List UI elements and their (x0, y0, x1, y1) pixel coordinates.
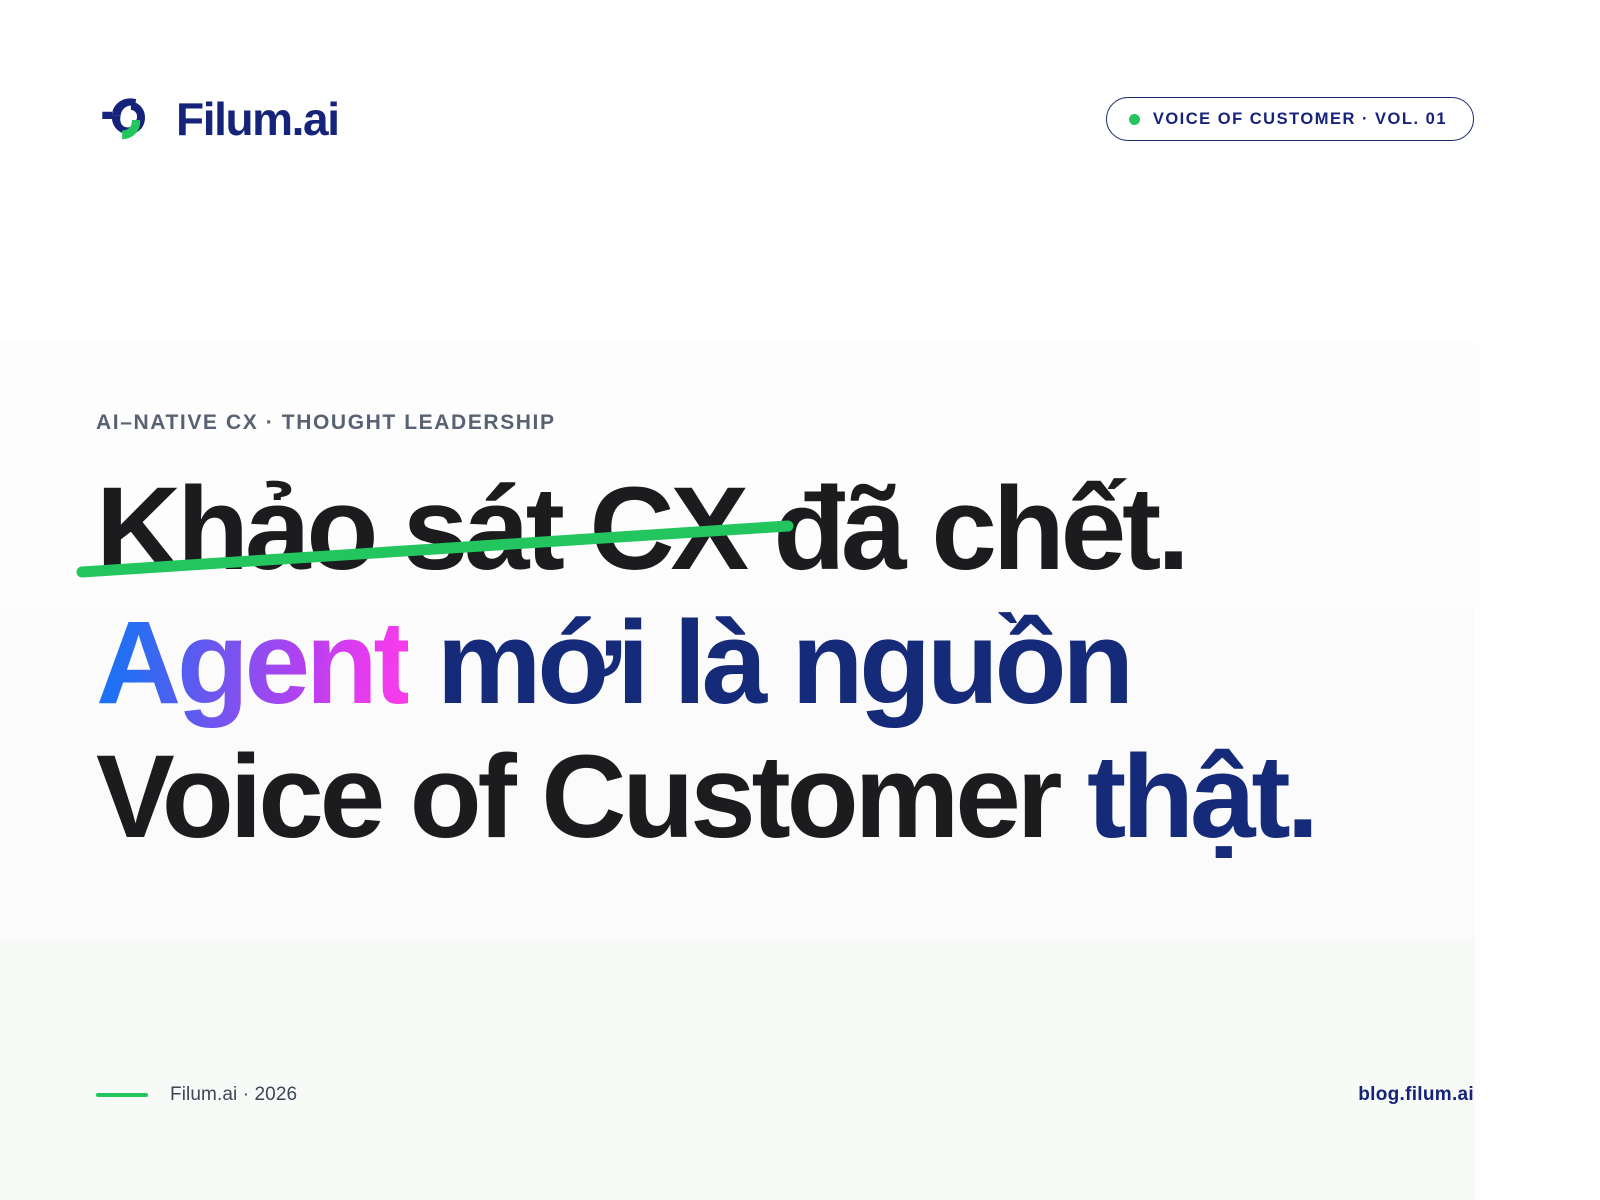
status-dot-icon (1129, 114, 1140, 125)
headline-line-2-gradient-word: Agent (96, 597, 408, 729)
background-band-top (0, 0, 1600, 340)
eyebrow-label: AI–NATIVE CX · THOUGHT LEADERSHIP (96, 411, 556, 435)
page-header: Filum.ai VOICE OF CUSTOMER · VOL. 01 (96, 86, 1474, 152)
headline-line-3-dark: Voice of Customer (96, 731, 1087, 863)
footer-credit-group: Filum.ai · 2026 (96, 1084, 297, 1106)
headline-line-2: Agent mới là nguồn (96, 596, 1516, 730)
brand-wordmark: Filum.ai (176, 96, 339, 142)
green-rule-icon (96, 1093, 148, 1097)
footer-credit: Filum.ai · 2026 (170, 1084, 297, 1106)
brand-lockup[interactable]: Filum.ai (96, 88, 339, 150)
headline-line-3-navy: thật. (1087, 731, 1315, 863)
headline-line-1: Khảo sát CX đã chết. (96, 462, 1516, 596)
headline-line-1-rest: đã chết. (745, 463, 1186, 595)
poster-canvas: Filum.ai VOICE OF CUSTOMER · VOL. 01 AI–… (0, 0, 1600, 1200)
volume-badge[interactable]: VOICE OF CUSTOMER · VOL. 01 (1106, 97, 1474, 141)
headline-line-1-struck: Khảo sát CX (96, 463, 745, 595)
headline-line-3: Voice of Customer thật. (96, 730, 1516, 864)
struck-phrase-wrapper: Khảo sát CX (96, 462, 745, 596)
volume-badge-label: VOICE OF CUSTOMER · VOL. 01 (1153, 110, 1447, 129)
filum-swirl-logo-icon (96, 88, 158, 150)
footer-blog-link[interactable]: blog.filum.ai (1358, 1084, 1474, 1106)
headline-block: Khảo sát CX đã chết. Agent mới là nguồn … (96, 462, 1516, 864)
page-footer: Filum.ai · 2026 blog.filum.ai (96, 1084, 1474, 1106)
headline-line-2-rest: mới là nguồn (408, 597, 1130, 729)
background-band-lower (0, 938, 1600, 1200)
